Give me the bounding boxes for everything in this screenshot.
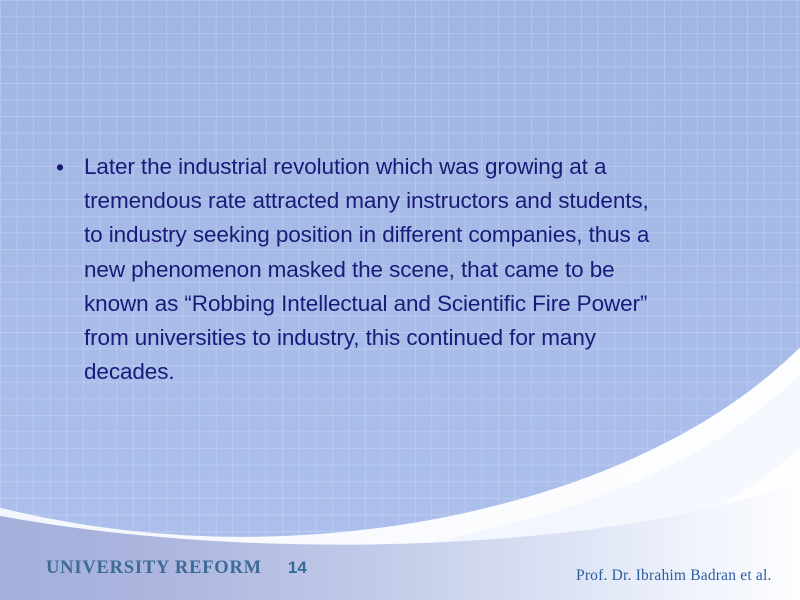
slide-canvas: • Later the industrial revolution which …: [0, 0, 800, 600]
bullet-list-item: • Later the industrial revolution which …: [50, 150, 750, 389]
body-paragraph: Later the industrial revolution which wa…: [84, 150, 750, 389]
bullet-point-icon: •: [50, 150, 84, 184]
footer-author-credit: Prof. Dr. Ibrahim Badran et al.: [576, 567, 772, 585]
footer-left-group: UNIVERSITY REFORM 14: [46, 558, 307, 579]
footer-deck-title: UNIVERSITY REFORM: [46, 558, 262, 579]
slide-body: • Later the industrial revolution which …: [50, 150, 750, 389]
slide-page-number: 14: [288, 558, 307, 578]
